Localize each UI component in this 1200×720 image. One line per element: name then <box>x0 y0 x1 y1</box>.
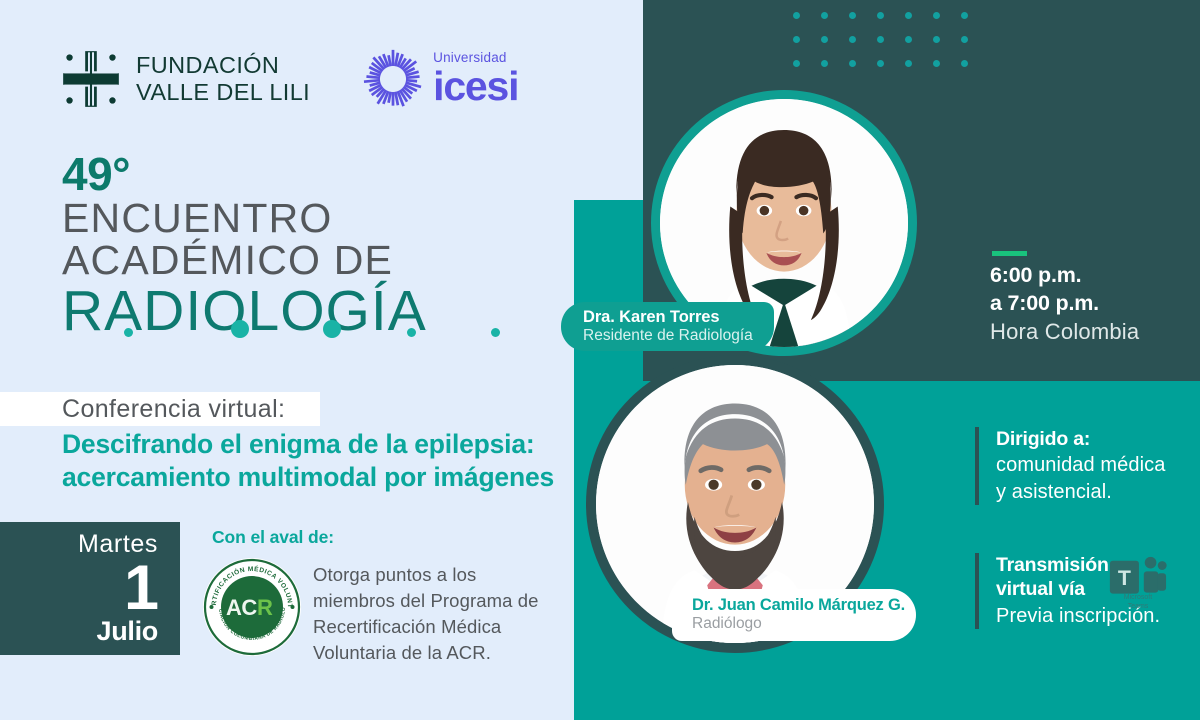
dot-grid-dot <box>933 36 940 43</box>
icesi-wordmark: Universidad icesi <box>433 51 518 107</box>
conferencia-title-line1: Descifrando el enigma de la epilepsia: <box>62 429 535 459</box>
icesi-name: icesi <box>433 66 518 107</box>
title-dot-2 <box>231 320 249 338</box>
speaker-2-name: Dr. Juan Camilo Márquez G. <box>692 596 916 615</box>
conferencia-title: Descifrando el enigma de la epilepsia: a… <box>62 428 554 495</box>
title-line-3: RADIOLOGÍA <box>62 282 427 340</box>
svg-text:R: R <box>257 595 273 620</box>
dot-grid-dot <box>793 12 800 19</box>
audience-block: Dirigido a: comunidad médica y asistenci… <box>975 427 1165 505</box>
schedule-block: 6:00 p.m. a 7:00 p.m. Hora Colombia <box>990 262 1139 347</box>
audience-heading: Dirigido a: <box>996 427 1165 451</box>
fundacion-valle-del-lili-mark-icon <box>62 50 120 108</box>
svg-text:AC: AC <box>226 595 257 620</box>
teams-caption-line1: Microsoft <box>1124 594 1152 601</box>
dot-grid-dot <box>905 12 912 19</box>
schedule-start: 6:00 p.m. <box>990 262 1139 290</box>
audience-text: comunidad médica y asistencial. <box>996 452 1165 505</box>
dot-grid-decoration <box>793 6 965 78</box>
dot-grid-dot <box>961 60 968 67</box>
fundacion-line1: FUNDACIÓN <box>136 52 279 78</box>
endorsement-text: Otorga puntos a los miembros del Program… <box>313 562 539 666</box>
schedule-timezone: Hora Colombia <box>990 318 1139 347</box>
dot-grid-dot <box>877 60 884 67</box>
acr-seal-icon: RECERTIFICACIÓN MÉDICA VOLUNTARIA ASOCIA… <box>202 557 302 657</box>
event-date-box: Martes 1 Julio <box>0 522 180 655</box>
speaker-1-name-pill: Dra. Karen Torres Residente de Radiologí… <box>561 302 774 351</box>
speaker-1-role: Residente de Radiología <box>583 327 774 346</box>
icesi-sunburst-icon <box>362 48 424 110</box>
logo-row: FUNDACIÓN VALLE DEL LILI Universidad ice… <box>62 48 518 110</box>
teal-mid-strip <box>574 200 643 381</box>
poster-canvas: FUNDACIÓN VALLE DEL LILI Universidad ice… <box>0 0 1200 720</box>
universidad-icesi-logo: Universidad icesi <box>362 48 518 110</box>
endorsement-text-line2: miembros del Programa de <box>313 590 539 611</box>
dot-grid-dot <box>905 36 912 43</box>
endorsement-heading: Con el aval de: <box>212 527 334 548</box>
dot-grid-dot <box>933 60 940 67</box>
dot-grid-dot <box>905 60 912 67</box>
audience-line1: comunidad médica <box>996 454 1165 476</box>
dot-grid-dot <box>849 60 856 67</box>
endorsement-text-line3: Recertificación Médica <box>313 616 501 637</box>
dot-grid-dot <box>793 36 800 43</box>
date-day: 1 <box>0 558 158 618</box>
dot-grid-dot <box>961 36 968 43</box>
broadcast-heading-line2: virtual vía <box>996 578 1085 600</box>
teams-caption-line2: Teams <box>1128 603 1149 610</box>
schedule-end: a 7:00 p.m. <box>990 290 1139 318</box>
fundacion-wordmark: FUNDACIÓN VALLE DEL LILI <box>136 52 310 107</box>
fundacion-valle-del-lili-logo: FUNDACIÓN VALLE DEL LILI <box>62 50 310 108</box>
microsoft-teams-caption: Microsoft Teams <box>1107 594 1169 612</box>
dot-grid-dot <box>793 60 800 67</box>
speaker-2-name-pill: Dr. Juan Camilo Márquez G. Radiólogo <box>672 589 916 641</box>
date-month: Julio <box>0 618 158 645</box>
title-dot-3 <box>323 320 341 338</box>
endorsement-text-line4: Voluntaria de la ACR. <box>313 642 491 663</box>
dot-grid-dot <box>877 36 884 43</box>
dot-grid-dot <box>821 36 828 43</box>
speaker-2-role: Radiólogo <box>692 615 916 634</box>
date-weekday: Martes <box>0 522 158 557</box>
dot-grid-dot <box>877 12 884 19</box>
conferencia-title-line2: acercamiento multimodal por imágenes <box>62 462 554 492</box>
title-dot-5 <box>491 328 500 337</box>
audience-line2: y asistencial. <box>996 481 1112 503</box>
edition-number: 49° <box>62 153 427 197</box>
title-line-2: ACADÉMICO DE <box>62 239 427 281</box>
endorsement-text-line1: Otorga puntos a los <box>313 564 476 585</box>
conferencia-label: Conferencia virtual: <box>62 395 285 424</box>
schedule-accent-bar <box>992 251 1027 256</box>
title-line-1: ENCUENTRO <box>62 197 427 239</box>
speaker-1-name: Dra. Karen Torres <box>583 308 774 327</box>
fundacion-line2: VALLE DEL LILI <box>136 79 310 105</box>
svg-text:T: T <box>1118 566 1131 590</box>
dot-grid-dot <box>849 36 856 43</box>
dot-grid-dot <box>849 12 856 19</box>
dot-grid-dot <box>933 12 940 19</box>
dot-grid-dot <box>821 12 828 19</box>
dot-grid-dot <box>821 60 828 67</box>
broadcast-heading-line1: Transmisión <box>996 554 1109 576</box>
event-title: 49° ENCUENTRO ACADÉMICO DE RADIOLOGÍA <box>62 153 427 340</box>
dot-grid-dot <box>961 12 968 19</box>
